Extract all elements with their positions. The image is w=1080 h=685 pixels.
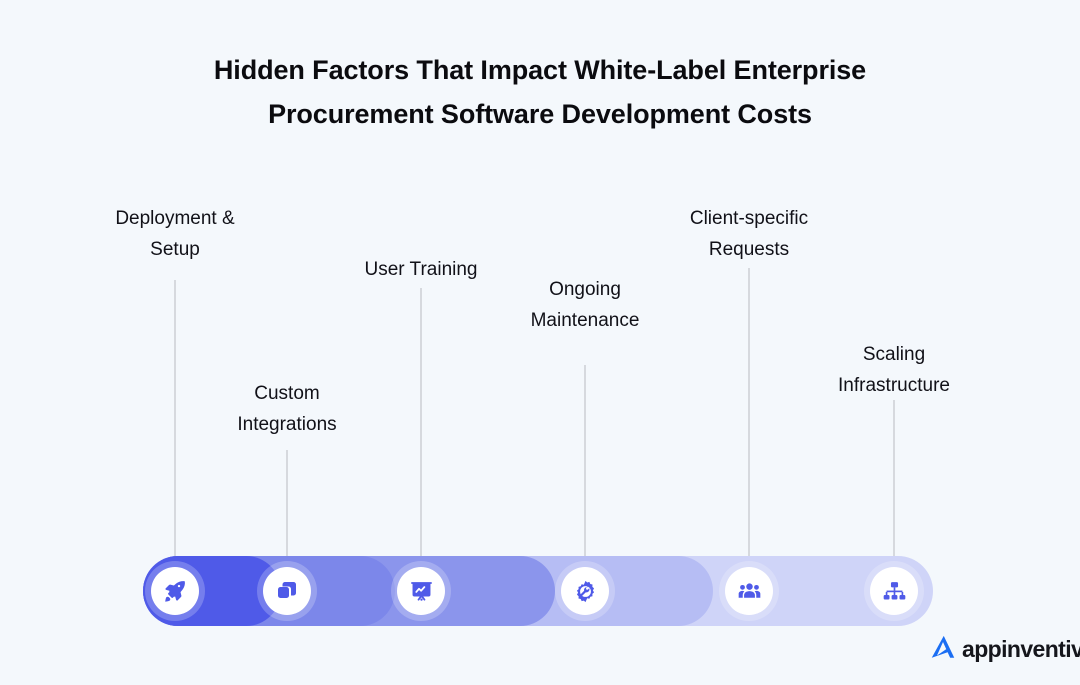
label-user-training: User Training <box>365 254 478 285</box>
gear-wrench-icon <box>573 579 598 604</box>
label-line-1: Scaling <box>838 339 950 370</box>
label-line-1: Deployment & <box>115 203 234 234</box>
label-scaling-infrastructure: Scaling Infrastructure <box>838 339 950 401</box>
icon-disc-user-training[interactable] <box>397 567 445 615</box>
presentation-chart-icon <box>409 579 434 604</box>
appinventiv-a-mark <box>928 632 958 667</box>
rocket-icon <box>162 578 188 604</box>
label-client-specific-requests: Client-specific Requests <box>690 203 808 265</box>
label-line-2: Infrastructure <box>838 370 950 401</box>
label-deployment-setup: Deployment & Setup <box>115 203 234 265</box>
connector-deployment-setup <box>174 280 176 556</box>
icon-disc-ongoing-maintenance[interactable] <box>561 567 609 615</box>
users-group-icon <box>737 579 762 604</box>
appinventiv-logo-text: appinventiv <box>962 638 1080 661</box>
icon-disc-deployment-setup[interactable] <box>151 567 199 615</box>
icon-disc-custom-integrations[interactable] <box>263 567 311 615</box>
layers-copy-icon <box>275 579 299 603</box>
label-line-2: Requests <box>690 234 808 265</box>
label-line-1: Client-specific <box>690 203 808 234</box>
sitemap-icon <box>882 579 907 604</box>
label-ongoing-maintenance: Ongoing Maintenance <box>531 274 640 336</box>
label-custom-integrations: Custom Integrations <box>237 378 336 440</box>
label-line-2: Maintenance <box>531 305 640 336</box>
appinventiv-logo[interactable]: appinventiv <box>928 632 1080 667</box>
connector-ongoing-maintenance <box>584 365 586 556</box>
label-line-2: Integrations <box>237 409 336 440</box>
label-line-1: Custom <box>237 378 336 409</box>
icon-disc-scaling-infrastructure[interactable] <box>870 567 918 615</box>
label-line-2: Setup <box>115 234 234 265</box>
factor-timeline-bar <box>143 556 933 626</box>
connector-client-specific-requests <box>748 268 750 556</box>
label-line-1: Ongoing <box>531 274 640 305</box>
icon-disc-client-specific-requests[interactable] <box>725 567 773 615</box>
label-line-1: User Training <box>365 254 478 285</box>
connector-custom-integrations <box>286 450 288 556</box>
connector-scaling-infrastructure <box>893 400 895 556</box>
connector-user-training <box>420 288 422 556</box>
